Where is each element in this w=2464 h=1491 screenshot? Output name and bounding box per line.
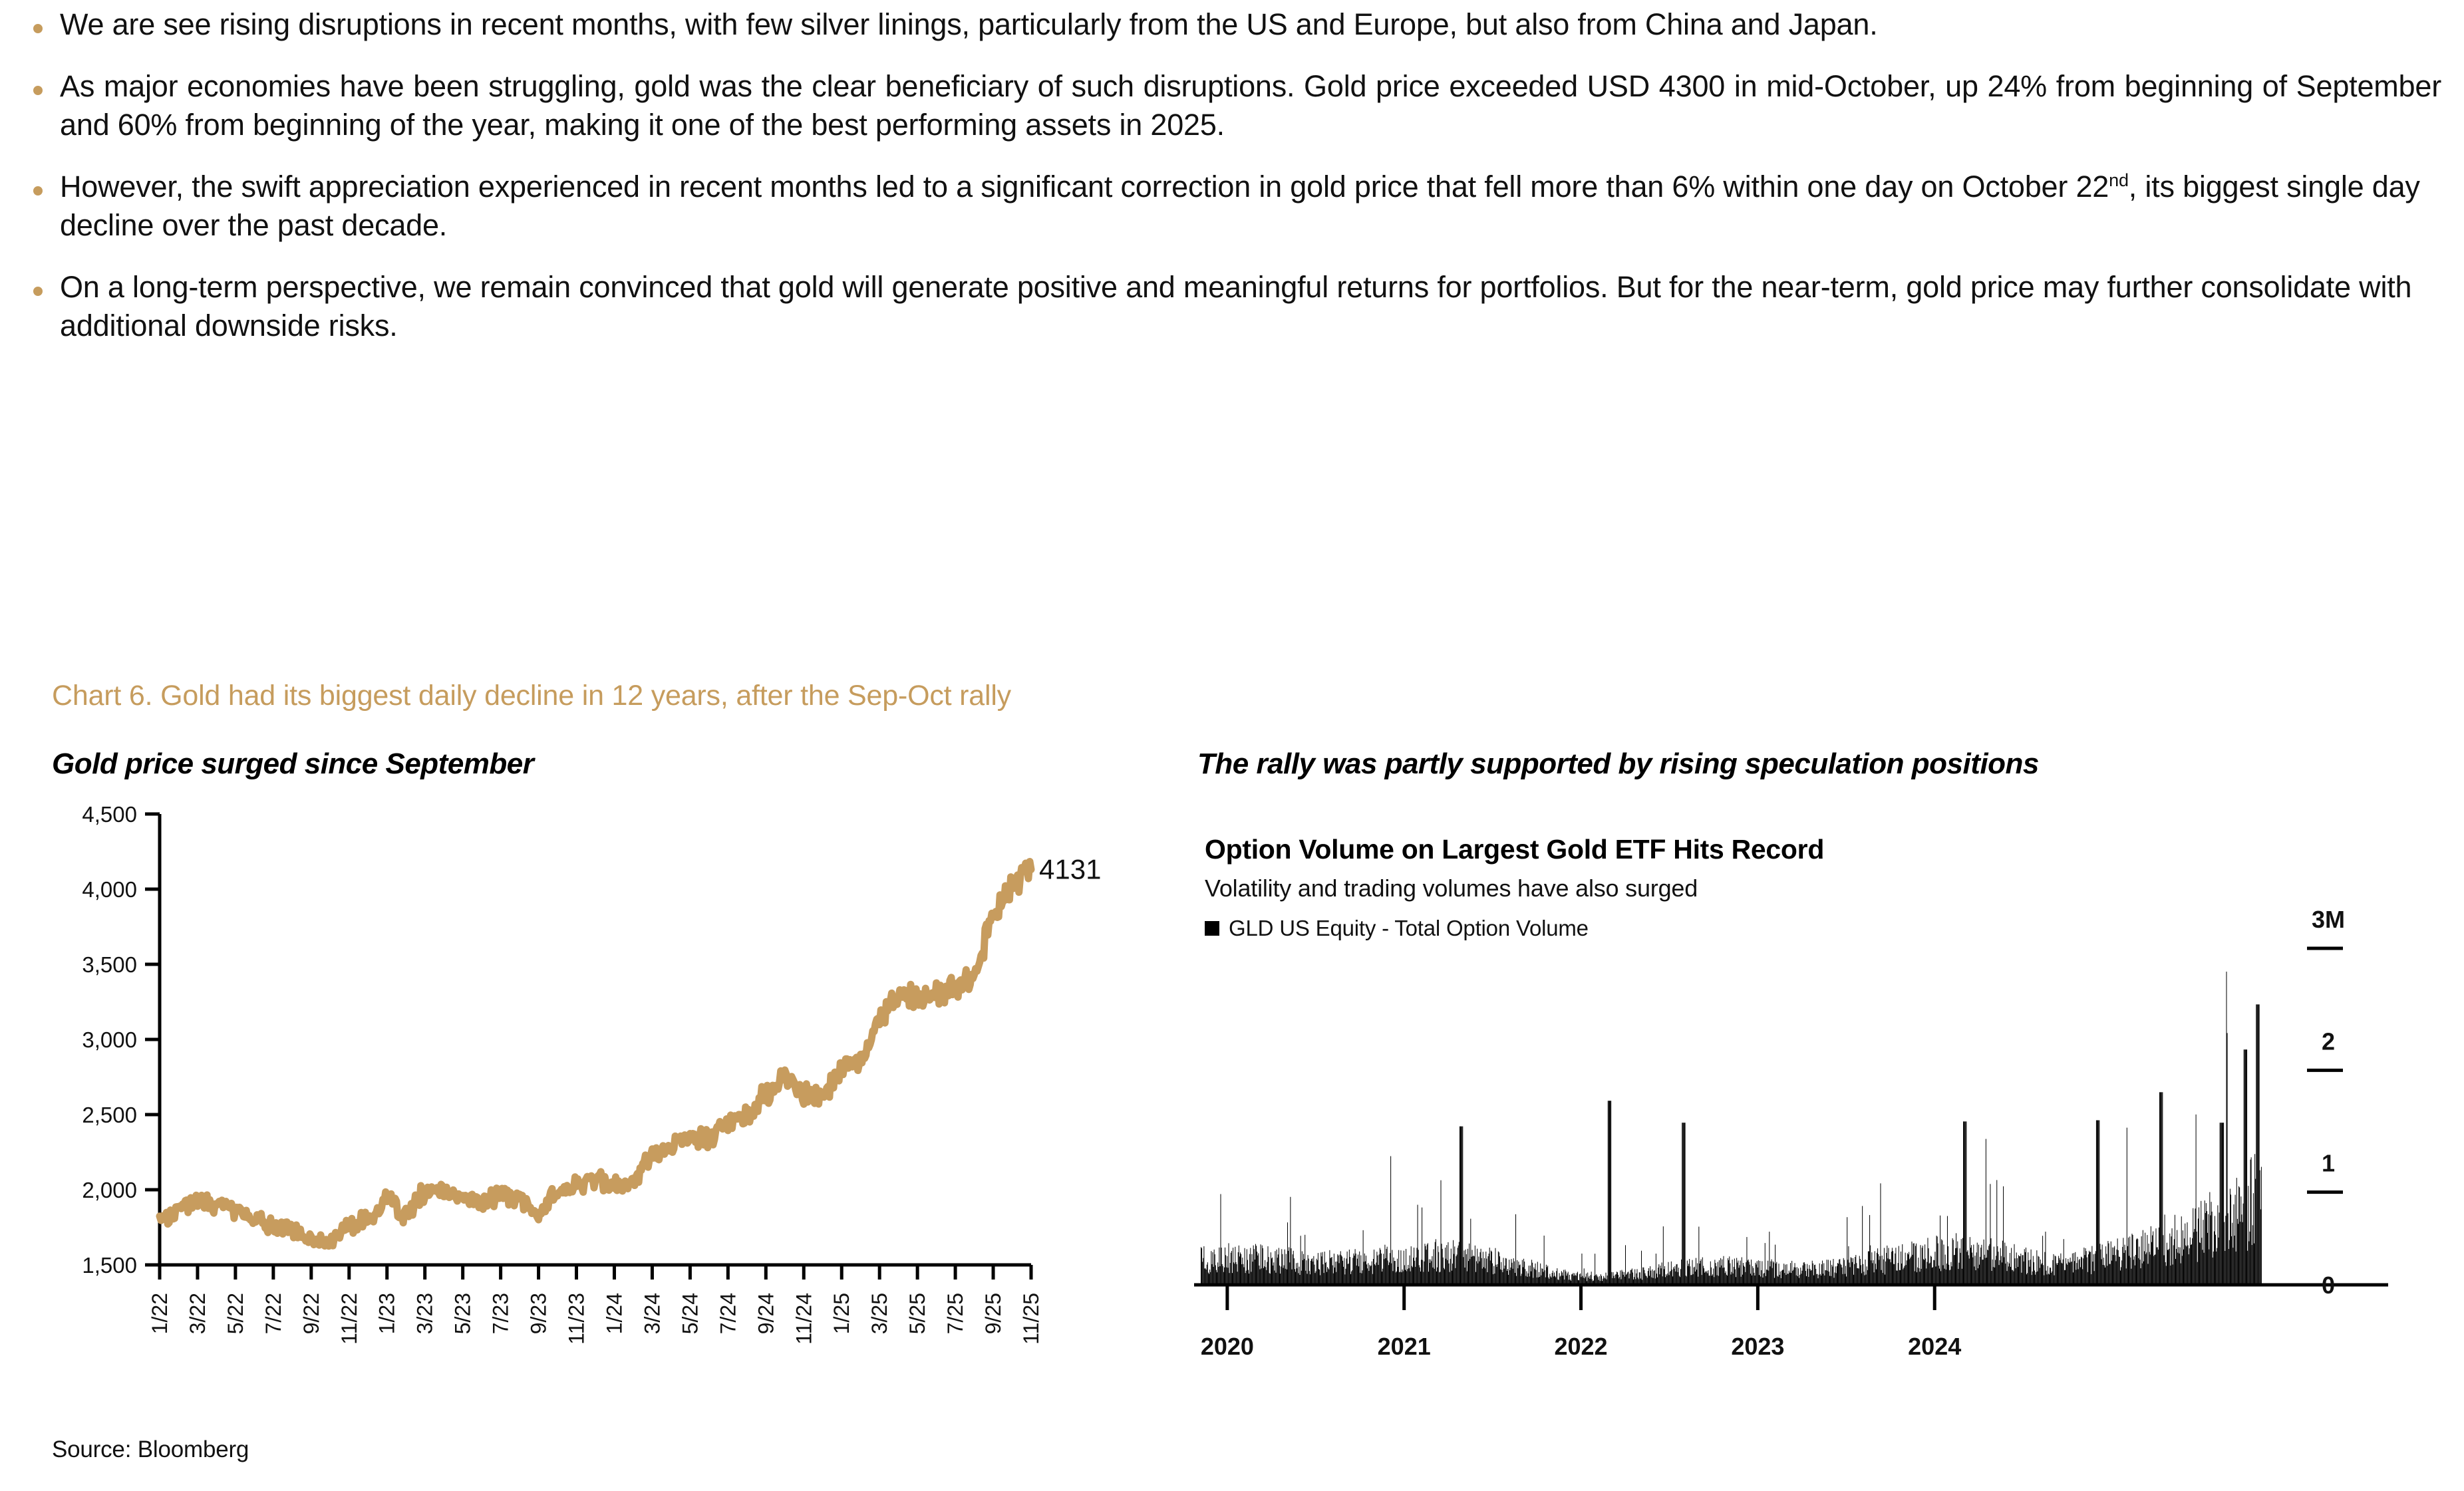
- source-note: Source: Bloomberg: [52, 1436, 249, 1463]
- x-axis-tick-label: 1/23: [375, 1293, 399, 1334]
- y-axis-tick-label: 2,500: [82, 1103, 137, 1127]
- bullet-item: On a long-term perspective, we remain co…: [27, 268, 2441, 346]
- chart-legend: GLD US Equity - Total Option Volume: [1205, 916, 1824, 941]
- y-axis-tick-label: 4,000: [82, 877, 137, 902]
- y-axis-tick-label: 2,000: [82, 1178, 137, 1202]
- x-axis-tick-label: 11/22: [337, 1293, 361, 1345]
- x-axis-tick-label: 2022: [1554, 1333, 1607, 1360]
- bullet-marker-icon: [33, 24, 43, 33]
- bullet-item: However, the swift appreciation experien…: [27, 168, 2441, 245]
- bloomberg-chart-title: Option Volume on Largest Gold ETF Hits R…: [1205, 834, 1824, 865]
- x-axis-tick-label: 7/24: [716, 1293, 740, 1334]
- x-axis-tick-label: 1/24: [602, 1293, 626, 1334]
- bloomberg-chart-subtitle: Volatility and trading volumes have also…: [1205, 875, 1824, 902]
- x-axis-tick-label: 3/25: [867, 1293, 891, 1334]
- gold-price-line: [160, 861, 1031, 1246]
- x-axis-tick-label: 5/24: [678, 1293, 702, 1334]
- x-axis-tick-label: 3/23: [413, 1293, 437, 1334]
- option-volume-bars: [1201, 972, 2262, 1285]
- y-axis-tick-label: 3M: [2312, 906, 2345, 933]
- x-axis-tick-label: 9/22: [299, 1293, 323, 1334]
- y-axis-tick-label: 3,500: [82, 952, 137, 977]
- y-axis-tick-label: 0: [2322, 1272, 2335, 1299]
- x-axis-tick-label: 7/23: [489, 1293, 513, 1334]
- left-chart-subtitle: Gold price surged since September: [52, 747, 534, 781]
- x-axis-tick-label: 2020: [1201, 1333, 1254, 1360]
- x-axis-tick-label: 7/22: [261, 1293, 285, 1334]
- y-axis-tick-label: 1: [2322, 1150, 2335, 1177]
- data-point-label: 4131: [1039, 853, 1101, 884]
- gold-price-svg: 4,5004,0003,5003,0002,5002,0001,5001/223…: [40, 806, 1144, 1385]
- x-axis-tick-label: 9/24: [754, 1293, 778, 1334]
- bullet-marker-icon: [33, 86, 43, 95]
- x-axis-tick-label: 2023: [1731, 1333, 1784, 1360]
- x-axis-tick-label: 11/23: [565, 1293, 589, 1345]
- bullet-marker-icon: [33, 186, 43, 196]
- bullet-3-superscript: nd: [2109, 170, 2129, 190]
- x-axis-tick-label: 1/25: [830, 1293, 853, 1334]
- x-axis-tick-label: 7/25: [943, 1293, 967, 1334]
- legend-label: GLD US Equity - Total Option Volume: [1229, 916, 1589, 941]
- x-axis-tick-label: 3/24: [640, 1293, 664, 1334]
- bullet-text-1: We are see rising disruptions in recent …: [60, 5, 2441, 45]
- y-axis-tick-label: 2: [2322, 1027, 2335, 1055]
- gld-option-volume-chart: 3M21020202021202220232024 Option Volume …: [1194, 806, 2431, 1405]
- y-axis-tick-label: 1,500: [82, 1253, 137, 1278]
- bloomberg-chart-header: Option Volume on Largest Gold ETF Hits R…: [1205, 834, 1824, 941]
- x-axis-tick-label: 1/22: [148, 1293, 172, 1334]
- x-axis-tick-label: 9/23: [527, 1293, 551, 1334]
- chart-caption-title: Chart 6. Gold had its biggest daily decl…: [52, 680, 1011, 712]
- x-axis-tick-label: 5/25: [905, 1293, 929, 1334]
- bullet-3-part-a: However, the swift appreciation experien…: [60, 170, 2109, 203]
- right-chart-subtitle: The rally was partly supported by rising…: [1197, 747, 2039, 781]
- bullet-text-4: On a long-term perspective, we remain co…: [60, 268, 2441, 346]
- bullet-item: We are see rising disruptions in recent …: [27, 5, 2441, 45]
- x-axis-tick-label: 11/25: [1019, 1293, 1043, 1345]
- bullet-text-3: However, the swift appreciation experien…: [60, 168, 2441, 245]
- y-axis-tick-label: 4,500: [82, 806, 137, 827]
- x-axis-tick-label: 5/23: [451, 1293, 475, 1334]
- bullet-text-2: As major economies have been struggling,…: [60, 67, 2441, 145]
- x-axis-tick-label: 11/24: [792, 1293, 816, 1345]
- x-axis-tick-label: 9/25: [981, 1293, 1005, 1334]
- legend-swatch-icon: [1205, 921, 1219, 936]
- x-axis-tick-label: 2021: [1378, 1333, 1431, 1360]
- x-axis-tick-label: 3/22: [186, 1293, 210, 1334]
- gold-price-line-chart: 4,5004,0003,5003,0002,5002,0001,5001/223…: [40, 806, 1144, 1385]
- bullet-list: We are see rising disruptions in recent …: [27, 5, 2441, 368]
- bullet-marker-icon: [33, 287, 43, 296]
- x-axis-tick-label: 5/22: [224, 1293, 247, 1334]
- bullet-item: As major economies have been struggling,…: [27, 67, 2441, 145]
- x-axis-tick-label: 2024: [1908, 1333, 1961, 1360]
- y-axis-tick-label: 3,000: [82, 1027, 137, 1052]
